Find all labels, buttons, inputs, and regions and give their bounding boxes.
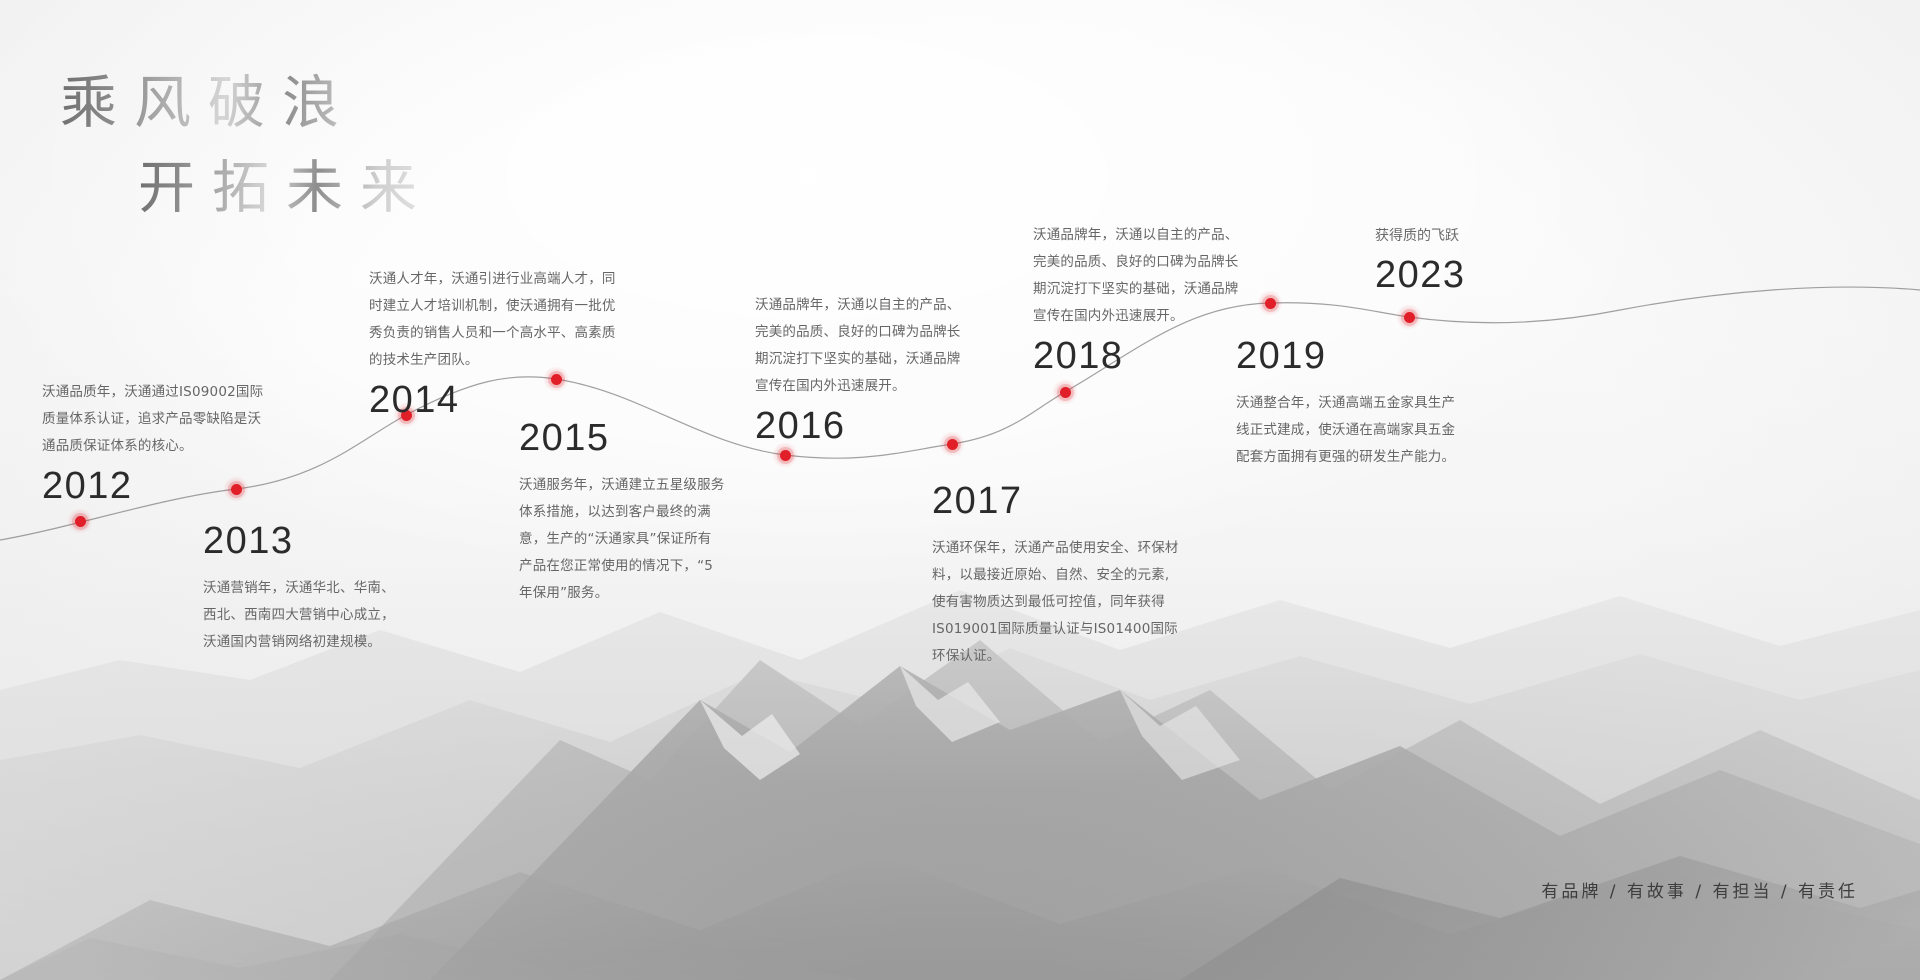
node-dot-icon [1060,387,1071,398]
entry-description-2013: 沃通营销年，沃通华北、华南、西北、西南四大营销中心成立，沃通国内营销网络初建规模… [203,575,403,656]
entry-year-2016: 2016 [755,406,967,448]
timeline-poster: 乘风破浪 开拓未来 沃通品质年，沃通通过IS09002国际质量体系认证，追求产品… [0,0,1920,980]
node-dot-icon [75,516,86,527]
entry-description-2017: 沃通环保年，沃通产品使用安全、环保材料，以最接近原始、自然、安全的元素,使有害物… [932,535,1180,670]
entry-year-2018: 2018 [1033,336,1239,378]
timeline-entry-2012[interactable]: 沃通品质年，沃通通过IS09002国际质量体系认证，追求产品零缺陷是沃通品质保证… [42,379,274,508]
timeline-entry-2019[interactable]: 2019沃通整合年，沃通高端五金家具生产线正式建成，使沃通在高端家具五金配套方面… [1236,336,1468,471]
timeline-entry-2016[interactable]: 沃通品牌年，沃通以自主的产品、完美的品质、良好的口碑为品牌长期沉淀打下坚实的基础… [755,292,967,448]
entry-year-2012: 2012 [42,466,274,508]
timeline-node-2018[interactable] [1052,379,1078,405]
timeline-entry-2018[interactable]: 沃通品牌年，沃通以自主的产品、完美的品质、良好的口碑为品牌长期沉淀打下坚实的基础… [1033,222,1239,378]
entry-description-2014: 沃通人才年，沃通引进行业高端人才，同时建立人才培训机制，使沃通拥有一批优秀负责的… [369,266,619,374]
entry-description-2012: 沃通品质年，沃通通过IS09002国际质量体系认证，追求产品零缺陷是沃通品质保证… [42,379,274,460]
node-dot-icon [1404,312,1415,323]
entry-year-2023: 2023 [1375,255,1535,297]
entry-description-2015: 沃通服务年，沃通建立五星级服务体系措施，以达到客户最终的满意，生产的“沃通家具”… [519,472,725,607]
timeline-entry-2023[interactable]: 获得质的飞跃2023 [1375,224,1535,297]
entry-description-2018: 沃通品牌年，沃通以自主的产品、完美的品质、良好的口碑为品牌长期沉淀打下坚实的基础… [1033,222,1239,330]
timeline-node-2019[interactable] [1257,290,1283,316]
timeline-entry-2014[interactable]: 沃通人才年，沃通引进行业高端人才，同时建立人才培训机制，使沃通拥有一批优秀负责的… [369,266,619,422]
timeline-node-2012[interactable] [67,508,93,534]
entry-description-2016: 沃通品牌年，沃通以自主的产品、完美的品质、良好的口碑为品牌长期沉淀打下坚实的基础… [755,292,967,400]
footer-tagline: 有品牌 / 有故事 / 有担当 / 有责任 [1541,877,1858,902]
entry-year-2014: 2014 [369,380,619,422]
timeline-entry-2015[interactable]: 2015沃通服务年，沃通建立五星级服务体系措施，以达到客户最终的满意，生产的“沃… [519,418,725,607]
entry-year-2017: 2017 [932,481,1180,523]
entry-year-2013: 2013 [203,521,403,563]
entry-year-2019: 2019 [1236,336,1468,378]
timeline-entry-2017[interactable]: 2017沃通环保年，沃通产品使用安全、环保材料，以最接近原始、自然、安全的元素,… [932,481,1180,670]
entry-year-2015: 2015 [519,418,725,460]
entry-description-2023: 获得质的飞跃 [1375,224,1535,249]
timeline-node-2023[interactable] [1396,304,1422,330]
timeline-entry-2013[interactable]: 2013沃通营销年，沃通华北、华南、西北、西南四大营销中心成立，沃通国内营销网络… [203,521,403,656]
node-dot-icon [780,450,791,461]
node-dot-icon [1265,298,1276,309]
entry-description-2019: 沃通整合年，沃通高端五金家具生产线正式建成，使沃通在高端家具五金配套方面拥有更强… [1236,390,1468,471]
